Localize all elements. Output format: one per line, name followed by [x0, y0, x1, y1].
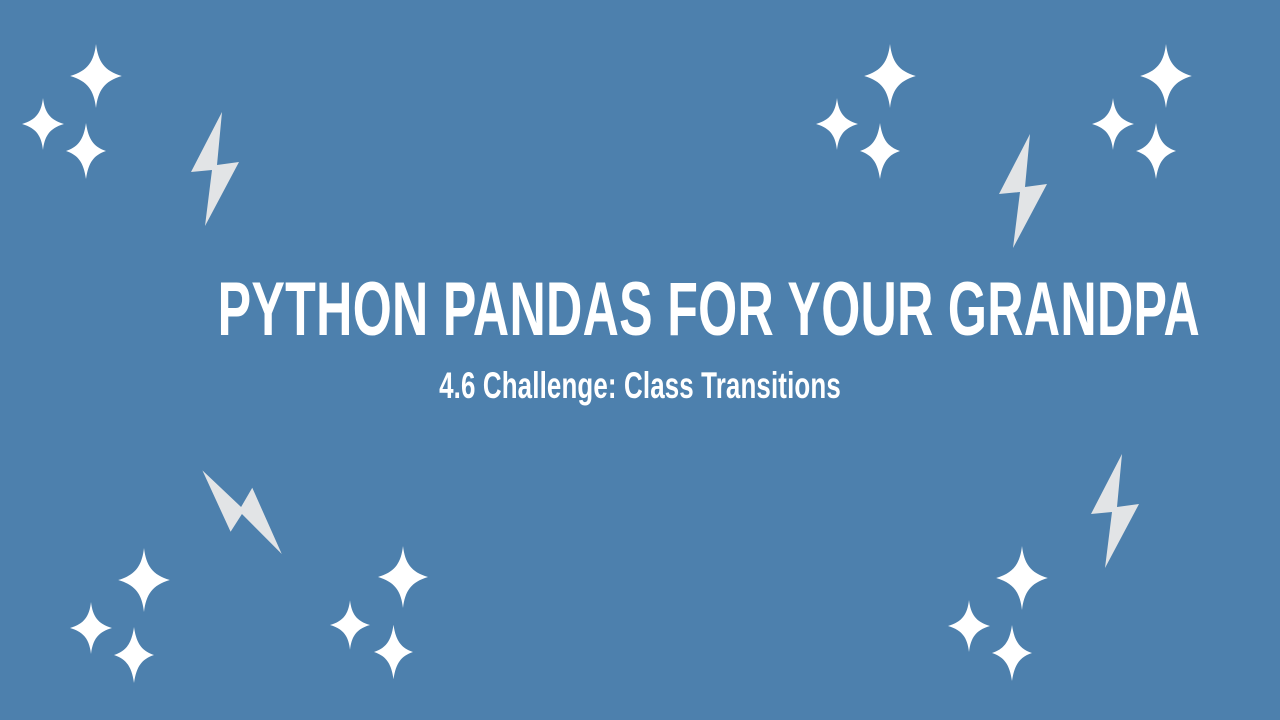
- lightning-bolt-bottom-left: [179, 452, 308, 570]
- sparkle-icon: [118, 548, 170, 612]
- sparkle-icon: [1136, 122, 1176, 180]
- title-block: Python Pandas for your Grandpa 4.6 Chall…: [0, 268, 1280, 406]
- sparkle-icon: [1092, 98, 1134, 150]
- lightning-bolt-bottom-right: [1086, 452, 1144, 570]
- sparkle-icon: [22, 98, 64, 150]
- title-slide: Python Pandas for your Grandpa 4.6 Chall…: [0, 0, 1280, 720]
- sparkle-icon: [70, 44, 122, 108]
- sparkle-icon: [378, 546, 428, 608]
- sparkle-cluster-bottom-right: [944, 546, 1064, 676]
- sparkle-icon: [1140, 44, 1192, 108]
- sparkle-cluster-top-far-right: [1088, 44, 1208, 174]
- sparkle-icon: [992, 624, 1032, 682]
- sparkle-icon: [948, 600, 990, 652]
- page-subtitle: 4.6 Challenge: Class Transitions: [192, 352, 1088, 406]
- sparkle-cluster-bottom-left: [66, 548, 186, 678]
- sparkle-cluster-top-right: [812, 44, 932, 174]
- sparkle-icon: [66, 122, 106, 180]
- sparkle-icon: [114, 626, 154, 684]
- sparkle-icon: [816, 98, 858, 150]
- sparkle-icon: [374, 624, 413, 680]
- lightning-bolt-top-left: [186, 110, 244, 228]
- sparkle-cluster-bottom-mid: [326, 546, 446, 676]
- sparkle-icon: [70, 602, 112, 654]
- sparkle-icon: [860, 122, 900, 180]
- sparkle-icon: [996, 546, 1048, 610]
- page-title: Python Pandas for your Grandpa: [218, 268, 1063, 352]
- lightning-bolt-top-right: [994, 132, 1052, 250]
- sparkle-icon: [864, 44, 916, 108]
- sparkle-cluster-top-left: [18, 44, 138, 174]
- sparkle-icon: [330, 600, 370, 650]
